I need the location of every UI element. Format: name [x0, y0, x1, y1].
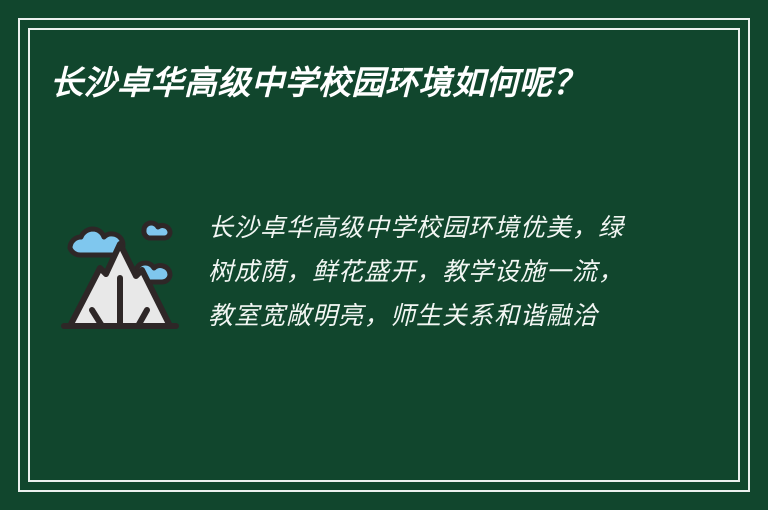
mountain-with-clouds-icon: [50, 200, 190, 340]
page-title: 长沙卓华高级中学校园环境如何呢？: [50, 58, 670, 108]
cloud-small-icon: [144, 223, 170, 238]
content-area: 长沙卓华高级中学校园环境优美，绿树成荫，鲜花盛开，教学设施一流，教室宽敞明亮，师…: [50, 200, 708, 340]
answer-card: 长沙卓华高级中学校园环境如何呢？: [0, 0, 768, 510]
answer-body-text: 长沙卓华高级中学校园环境优美，绿树成荫，鲜花盛开，教学设施一流，教室宽敞明亮，师…: [208, 200, 628, 338]
